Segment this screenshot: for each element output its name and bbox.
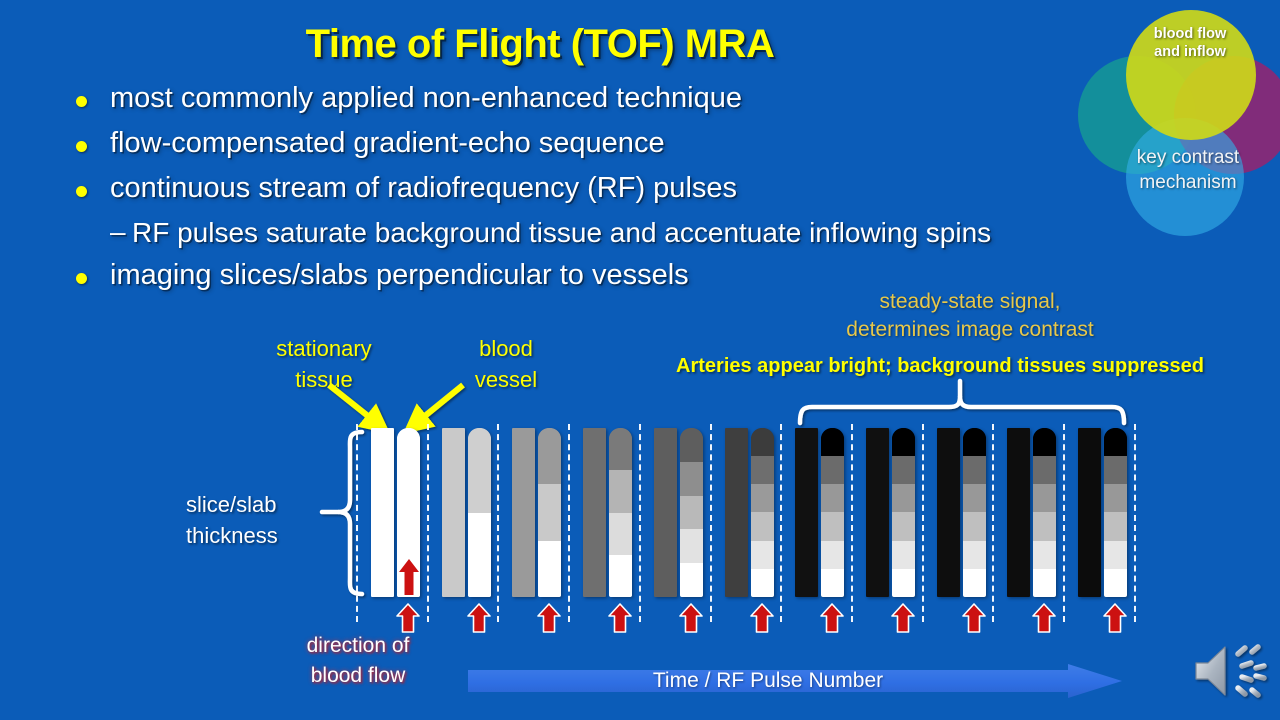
- vessel-signal-band: [892, 456, 915, 484]
- vessel-signal-band: [680, 529, 703, 563]
- vessel-signal-band: [1033, 569, 1056, 597]
- vessel-signal-band: [468, 428, 491, 513]
- blood-vessel-bar: [751, 428, 774, 597]
- vessel-signal-band: [892, 484, 915, 512]
- stationary-tissue-bar: [654, 428, 677, 597]
- blood-vessel-bar: [680, 428, 703, 597]
- blood-vessel-pointer-arrow-icon: [415, 385, 463, 424]
- column-separator: [710, 424, 712, 622]
- vessel-signal-band: [821, 541, 844, 569]
- tof-saturation-diagram: [0, 0, 1280, 720]
- stationary-tissue-bar: [725, 428, 748, 597]
- vessel-signal-band: [1033, 512, 1056, 540]
- blood-flow-arrow-icon: [679, 603, 703, 633]
- vessel-signal-band: [821, 512, 844, 540]
- column-separator: [568, 424, 570, 622]
- vessel-signal-band: [963, 484, 986, 512]
- vessel-signal-band: [1033, 456, 1056, 484]
- blood-vessel-bar: [963, 428, 986, 597]
- blood-flow-arrow-icon: [396, 603, 420, 633]
- vessel-signal-band: [1033, 428, 1056, 456]
- blood-vessel-bar: [538, 428, 561, 597]
- vessel-signal-band: [1104, 512, 1127, 540]
- stationary-tissue-bar: [1078, 428, 1101, 597]
- vessel-signal-band: [680, 428, 703, 462]
- vessel-signal-band: [538, 484, 561, 540]
- vessel-signal-band: [963, 456, 986, 484]
- column-separator: [1063, 424, 1065, 622]
- vessel-signal-band: [1104, 428, 1127, 456]
- vessel-signal-band: [751, 512, 774, 540]
- stationary-tissue-bar: [795, 428, 818, 597]
- blood-flow-arrow-icon: [962, 603, 986, 633]
- blood-flow-arrow-icon: [820, 603, 844, 633]
- time-axis-label: Time / RF Pulse Number: [468, 664, 1068, 698]
- stationary-tissue-bar: [866, 428, 889, 597]
- vessel-signal-band: [963, 569, 986, 597]
- column-separator: [639, 424, 641, 622]
- stationary-tissue-bar: [371, 428, 394, 597]
- vessel-signal-band: [963, 428, 986, 456]
- stationary-tissue-pointer-arrow-icon: [329, 385, 378, 424]
- blood-vessel-bar: [1033, 428, 1056, 597]
- vessel-signal-band: [1104, 569, 1127, 597]
- vessel-signal-band: [821, 456, 844, 484]
- vessel-signal-band: [892, 541, 915, 569]
- blood-flow-arrow-icon: [750, 603, 774, 633]
- vessel-signal-band: [821, 428, 844, 456]
- stationary-tissue-bar: [442, 428, 465, 597]
- blood-flow-arrow-icon: [608, 603, 632, 633]
- vessel-signal-band: [821, 569, 844, 597]
- vessel-signal-band: [963, 541, 986, 569]
- vessel-signal-band: [751, 569, 774, 597]
- vessel-signal-band: [1033, 541, 1056, 569]
- blood-vessel-bar: [1104, 428, 1127, 597]
- blood-vessel-bar: [821, 428, 844, 597]
- vessel-signal-band: [751, 541, 774, 569]
- column-separator: [497, 424, 499, 622]
- vessel-signal-band: [609, 428, 632, 470]
- stationary-tissue-bar: [937, 428, 960, 597]
- vessel-signal-band: [963, 512, 986, 540]
- vessel-signal-band: [892, 428, 915, 456]
- speaker-icon[interactable]: [1192, 638, 1270, 704]
- vessel-signal-band: [468, 513, 491, 598]
- vessel-signal-band: [751, 484, 774, 512]
- vessel-signal-band: [1033, 484, 1056, 512]
- steady-state-brace-icon: [800, 381, 1124, 423]
- inflow-arrow-icon: [398, 557, 420, 597]
- vessel-signal-band: [892, 512, 915, 540]
- blood-flow-arrow-icon: [1103, 603, 1127, 633]
- blood-flow-arrow-icon: [1032, 603, 1056, 633]
- vessel-signal-band: [751, 428, 774, 456]
- speaker-icon-shape: [1192, 638, 1270, 704]
- blood-vessel-bar: [468, 428, 491, 597]
- vessel-signal-band: [751, 456, 774, 484]
- vessel-signal-band: [1104, 456, 1127, 484]
- column-separator: [356, 424, 358, 622]
- blood-vessel-bar: [892, 428, 915, 597]
- column-separator: [427, 424, 429, 622]
- vessel-signal-band: [1104, 484, 1127, 512]
- column-separator: [922, 424, 924, 622]
- stationary-tissue-bar: [1007, 428, 1030, 597]
- blood-flow-arrow-icon: [467, 603, 491, 633]
- vessel-signal-band: [680, 563, 703, 597]
- vessel-signal-band: [680, 462, 703, 496]
- blood-vessel-bar: [609, 428, 632, 597]
- column-separator: [851, 424, 853, 622]
- vessel-signal-band: [1104, 541, 1127, 569]
- time-axis-arrow: Time / RF Pulse Number: [468, 664, 1122, 698]
- blood-flow-arrow-icon: [891, 603, 915, 633]
- vessel-signal-band: [609, 470, 632, 512]
- stationary-tissue-bar: [583, 428, 606, 597]
- vessel-signal-band: [892, 569, 915, 597]
- vessel-signal-band: [680, 496, 703, 530]
- column-separator: [1134, 424, 1136, 622]
- slide-canvas: Time of Flight (TOF) MRA most commonly a…: [0, 0, 1280, 720]
- vessel-signal-band: [609, 513, 632, 555]
- vessel-signal-band: [538, 428, 561, 484]
- vessel-signal-band: [609, 555, 632, 597]
- stationary-tissue-bar: [512, 428, 535, 597]
- vessel-signal-band: [821, 484, 844, 512]
- vessel-signal-band: [538, 541, 561, 597]
- column-separator: [780, 424, 782, 622]
- blood-flow-arrow-icon: [537, 603, 561, 633]
- column-separator: [992, 424, 994, 622]
